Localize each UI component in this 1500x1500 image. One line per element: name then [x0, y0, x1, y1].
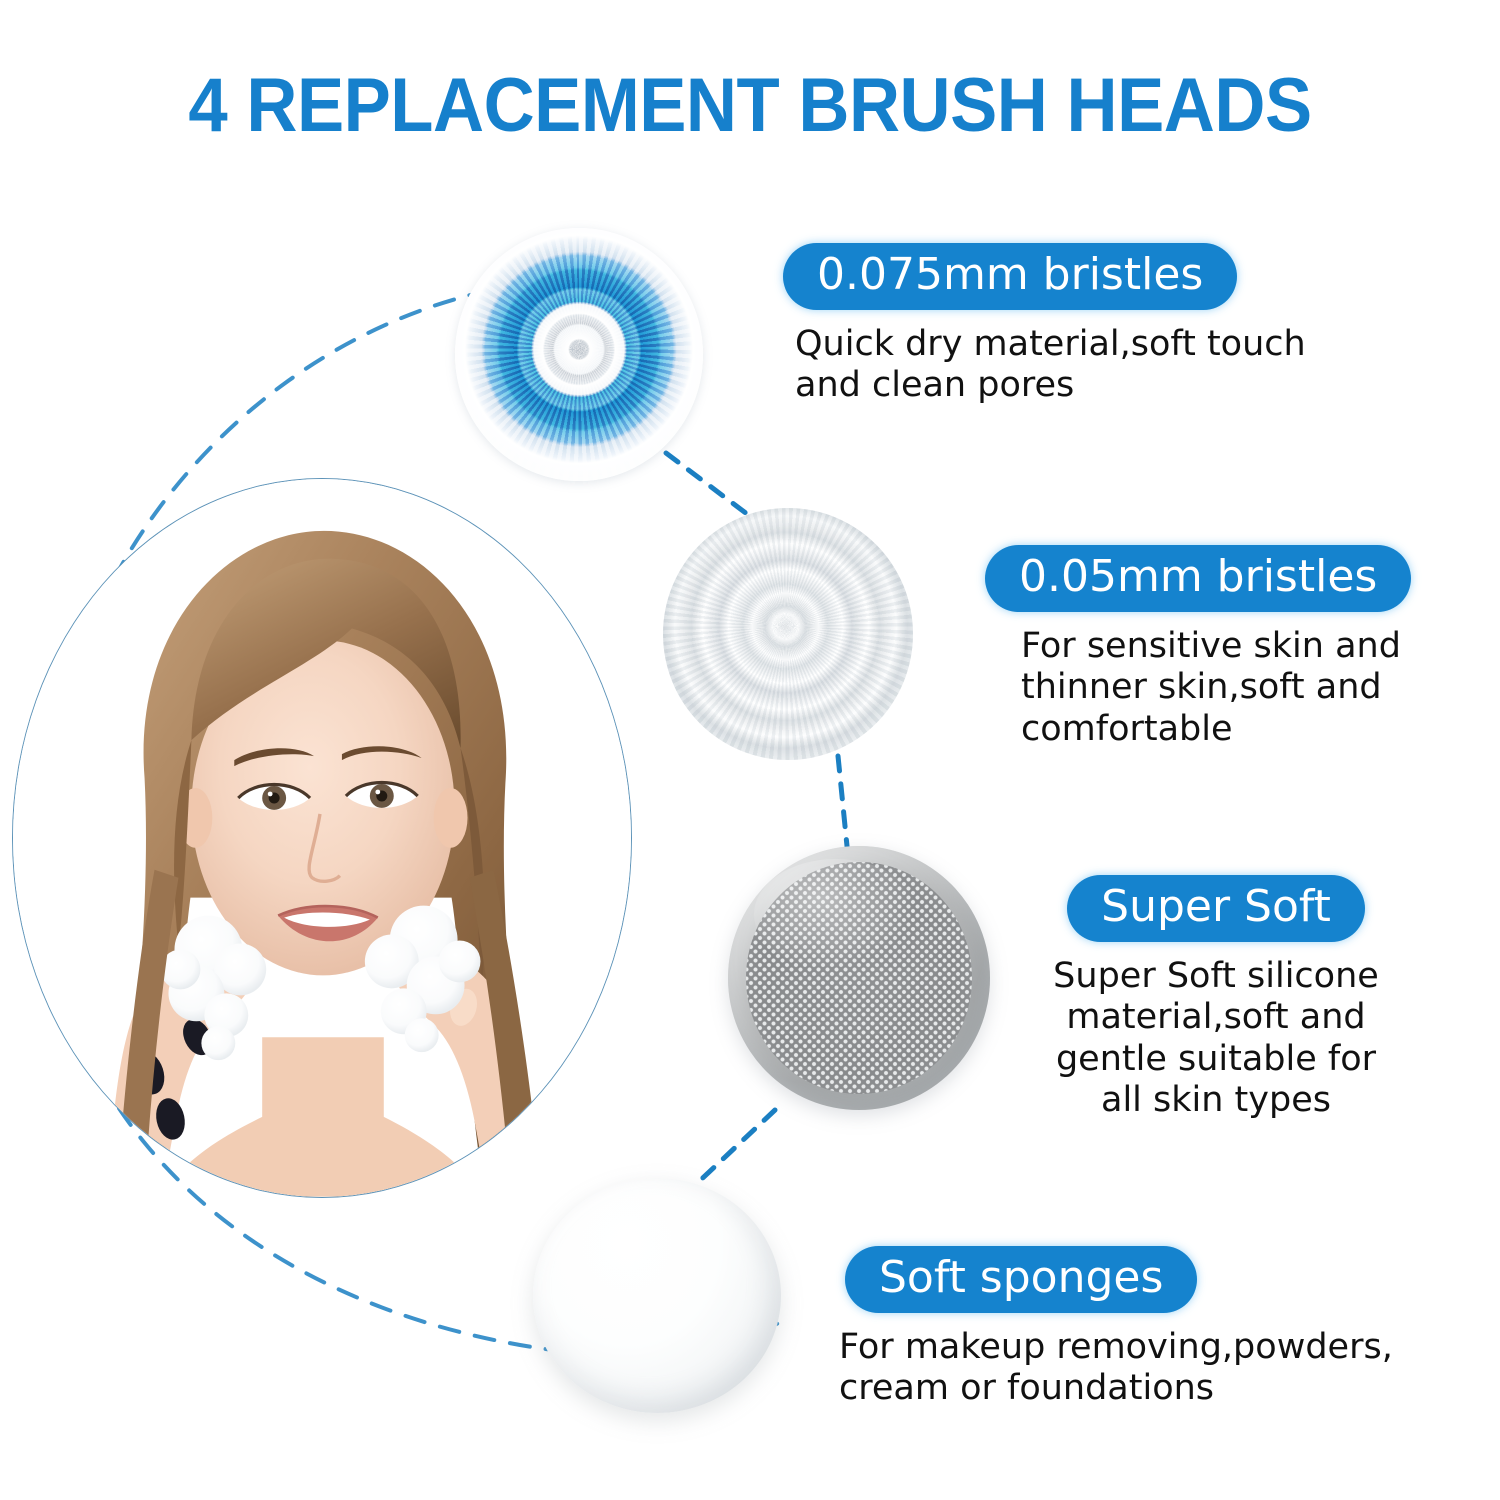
description-bristles-005: For sensitive skin and thinner skin,soft…: [1021, 626, 1411, 750]
connector-head2-head3: [838, 756, 848, 856]
connector-head1-head2: [666, 453, 755, 520]
callout-super-soft: Super Soft Super Soft silicone material,…: [1018, 875, 1414, 1121]
infographic-page: 4 REPLACEMENT BRUSH HEADS: [0, 0, 1500, 1500]
connector-head3-head4: [690, 1110, 775, 1190]
silicone-dot-texture: [746, 862, 971, 1094]
badge-super-soft[interactable]: Super Soft: [1067, 875, 1365, 942]
page-title: 4 REPLACEMENT BRUSH HEADS: [53, 62, 1448, 149]
hero-photo-circle: [12, 478, 632, 1198]
white-bristle-brush-head[interactable]: [663, 508, 913, 760]
badge-bristles-075[interactable]: 0.075mm bristles: [783, 243, 1237, 310]
ear-right: [434, 788, 468, 848]
description-bristles-075: Quick dry material,soft touch and clean …: [795, 324, 1306, 407]
description-super-soft: Super Soft silicone material,soft and ge…: [1018, 956, 1414, 1121]
description-soft-sponges: For makeup removing,powders, cream or fo…: [839, 1327, 1393, 1410]
hero-photo-illustration: [13, 479, 631, 1197]
badge-soft-sponges[interactable]: Soft sponges: [845, 1246, 1197, 1313]
white-sponge-head[interactable]: [533, 1178, 781, 1413]
badge-bristles-005[interactable]: 0.05mm bristles: [985, 545, 1411, 612]
blue-white-bristle-brush-head[interactable]: [455, 228, 703, 481]
callout-bristles-075: 0.075mm bristles Quick dry material,soft…: [783, 243, 1306, 407]
callout-bristles-005: 0.05mm bristles For sensitive skin and t…: [985, 545, 1411, 750]
gray-silicone-brush-head[interactable]: [728, 846, 990, 1110]
callout-soft-sponges: Soft sponges For makeup removing,powders…: [845, 1246, 1393, 1410]
